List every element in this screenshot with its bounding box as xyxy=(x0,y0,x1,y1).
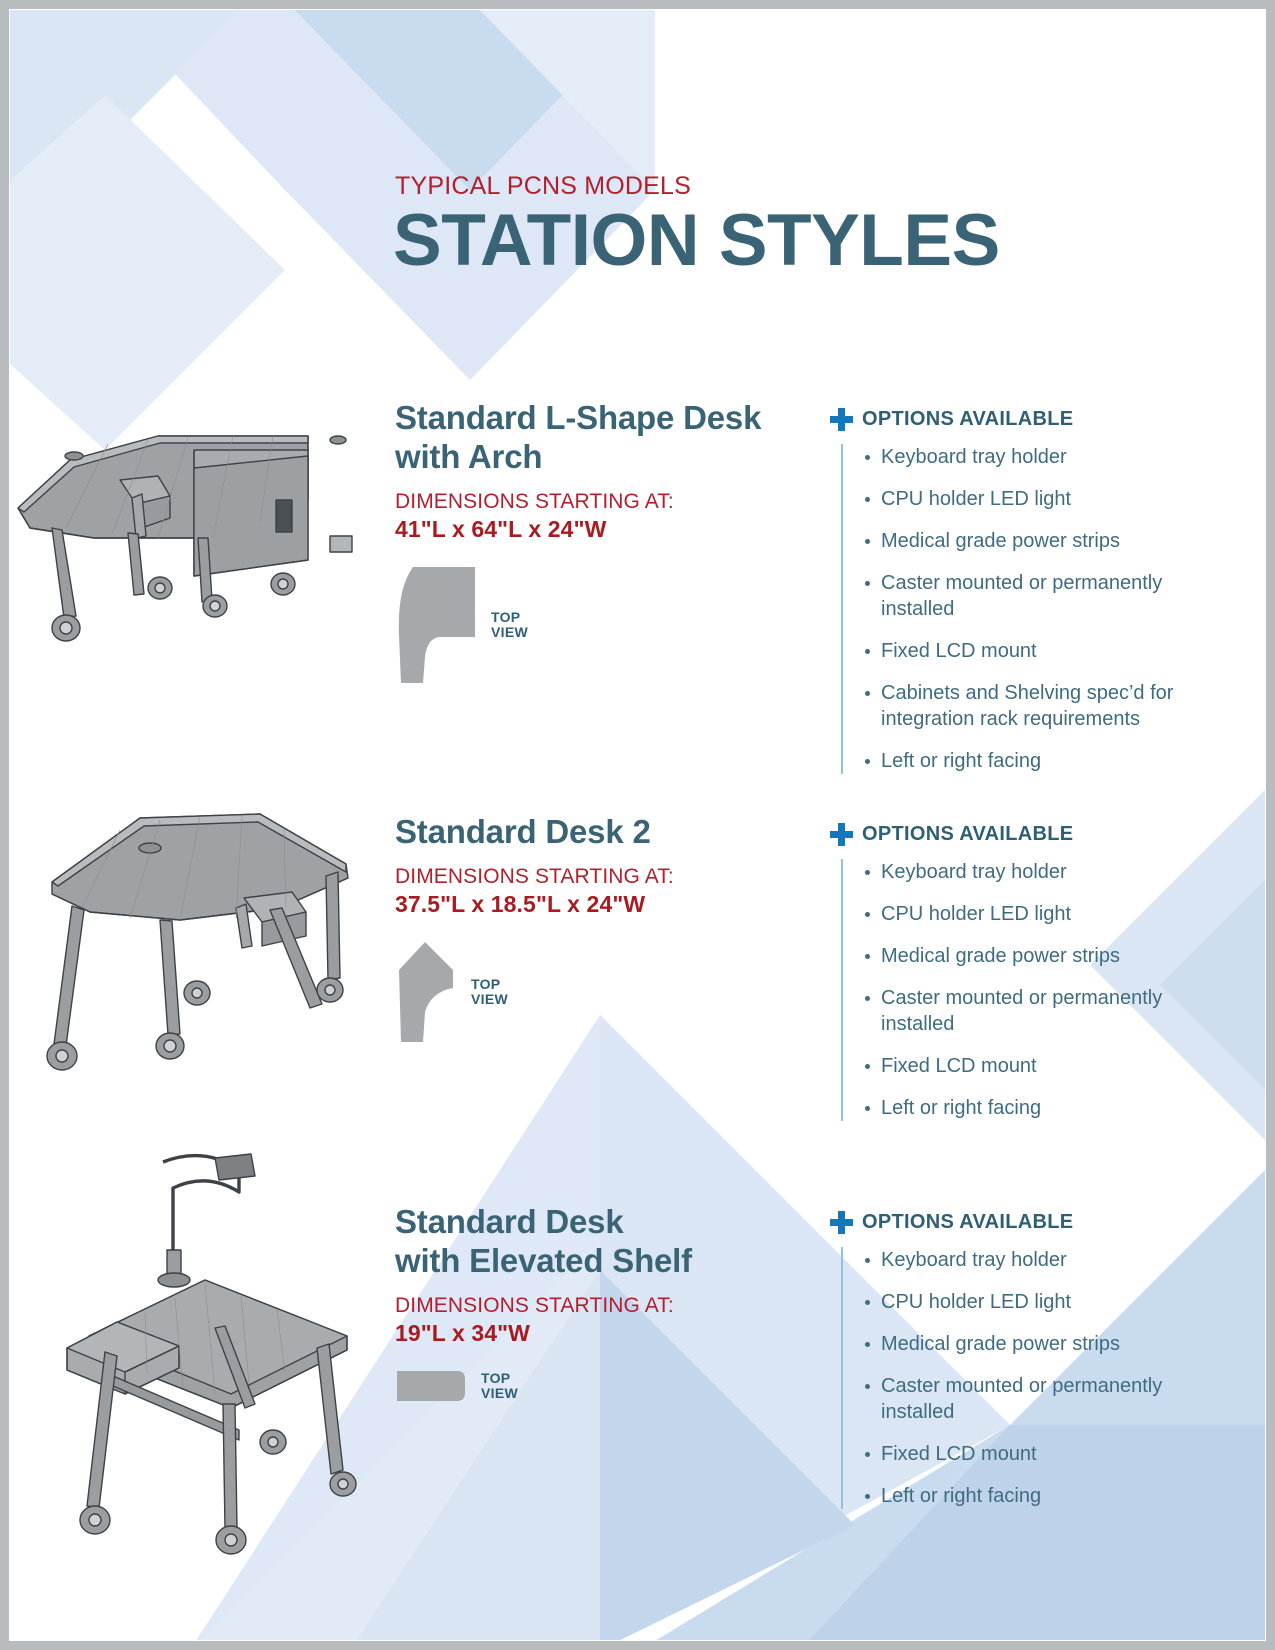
section-title: Standard Desk 2 xyxy=(395,812,815,851)
list-item: CPU holder LED light xyxy=(865,901,1190,927)
top-view-group: TOP VIEW xyxy=(395,565,815,685)
section-standard-desk-with-elevated-shelf: Standard Desk with Elevated Shelf DIMENS… xyxy=(395,1202,815,1403)
top-view-group: TOP VIEW xyxy=(395,1369,815,1403)
list-item: Medical grade power strips xyxy=(865,528,1190,554)
station-styles-page: TYPICAL PCNS MODELS STATION STYLES xyxy=(0,0,1275,1650)
options-list: Keyboard tray holder CPU holder LED ligh… xyxy=(841,859,1190,1121)
elevated-shelf-top-view-shape xyxy=(395,1369,467,1403)
section-title: Standard L-Shape Desk with Arch xyxy=(395,398,815,476)
list-item: Keyboard tray holder xyxy=(865,444,1190,470)
list-item: Caster mounted or permanently installed xyxy=(865,1373,1190,1425)
options-title: OPTIONS AVAILABLE xyxy=(862,1211,1073,1234)
top-view-label-line2: VIEW xyxy=(481,1385,518,1401)
section-title-line1: Standard Desk xyxy=(395,1203,623,1240)
options-panel-2: OPTIONS AVAILABLE Keyboard tray holder C… xyxy=(830,823,1190,1137)
list-item: Cabinets and Shelving spec’d for integra… xyxy=(865,680,1190,732)
list-item: Keyboard tray holder xyxy=(865,1247,1190,1273)
list-item: Left or right facing xyxy=(865,748,1190,774)
dimensions-value: 19"L x 34"W xyxy=(395,1319,815,1347)
list-item: CPU holder LED light xyxy=(865,486,1190,512)
options-panel-3: OPTIONS AVAILABLE Keyboard tray holder C… xyxy=(830,1211,1190,1525)
list-item: Medical grade power strips xyxy=(865,943,1190,969)
section-title-line1: Standard L-Shape Desk xyxy=(395,399,761,436)
options-header: OPTIONS AVAILABLE xyxy=(830,823,1190,846)
list-item: Medical grade power strips xyxy=(865,1331,1190,1357)
section-standard-l-shape-desk-with-arch: Standard L-Shape Desk with Arch DIMENSIO… xyxy=(395,398,815,685)
top-view-label-line1: TOP xyxy=(491,609,520,625)
top-view-label: TOP VIEW xyxy=(491,610,528,640)
plus-icon xyxy=(830,823,853,846)
dimensions-value: 41"L x 64"L x 24"W xyxy=(395,515,815,543)
options-title: OPTIONS AVAILABLE xyxy=(862,408,1073,431)
list-item: Caster mounted or permanently installed xyxy=(865,570,1190,622)
section-title-line1: Standard Desk 2 xyxy=(395,813,651,850)
dimensions-label: DIMENSIONS STARTING AT: xyxy=(395,489,815,515)
top-view-label: TOP VIEW xyxy=(481,1371,518,1401)
section-standard-desk-2: Standard Desk 2 DIMENSIONS STARTING AT: … xyxy=(395,812,815,1044)
list-item: Fixed LCD mount xyxy=(865,638,1190,664)
plus-icon xyxy=(830,1211,853,1234)
section-title-line2: with Arch xyxy=(395,438,542,475)
options-panel-1: OPTIONS AVAILABLE Keyboard tray holder C… xyxy=(830,408,1190,790)
dimensions-value: 37.5"L x 18.5"L x 24"W xyxy=(395,890,815,918)
list-item: Fixed LCD mount xyxy=(865,1441,1190,1467)
dimensions-label: DIMENSIONS STARTING AT: xyxy=(395,1293,815,1319)
top-view-label-line1: TOP xyxy=(481,1370,510,1386)
desk-2-top-view-shape xyxy=(395,940,457,1044)
standard-desk-with-elevated-shelf-illustration xyxy=(55,1140,395,1575)
list-item: Left or right facing xyxy=(865,1483,1190,1509)
l-shape-arch-top-view-shape xyxy=(395,565,477,685)
top-view-label-line1: TOP xyxy=(471,976,500,992)
page-kicker: TYPICAL PCNS MODELS xyxy=(395,172,691,201)
top-view-label-line2: VIEW xyxy=(471,991,508,1007)
top-view-label: TOP VIEW xyxy=(471,977,508,1007)
standard-l-shape-desk-with-arch-illustration xyxy=(8,388,388,673)
options-header: OPTIONS AVAILABLE xyxy=(830,408,1190,431)
options-title: OPTIONS AVAILABLE xyxy=(862,823,1073,846)
list-item: Left or right facing xyxy=(865,1095,1190,1121)
top-view-label-line2: VIEW xyxy=(491,624,528,640)
options-list: Keyboard tray holder CPU holder LED ligh… xyxy=(841,1247,1190,1509)
options-list: Keyboard tray holder CPU holder LED ligh… xyxy=(841,444,1190,774)
plus-icon xyxy=(830,408,853,431)
list-item: Keyboard tray holder xyxy=(865,859,1190,885)
list-item: CPU holder LED light xyxy=(865,1289,1190,1315)
options-header: OPTIONS AVAILABLE xyxy=(830,1211,1190,1234)
dimensions-label: DIMENSIONS STARTING AT: xyxy=(395,864,815,890)
list-item: Caster mounted or permanently installed xyxy=(865,985,1190,1037)
standard-desk-2-illustration xyxy=(30,790,390,1115)
list-item: Fixed LCD mount xyxy=(865,1053,1190,1079)
top-view-group: TOP VIEW xyxy=(395,940,815,1044)
section-title-line2: with Elevated Shelf xyxy=(395,1242,692,1279)
page-title: STATION STYLES xyxy=(393,203,1000,279)
section-title: Standard Desk with Elevated Shelf xyxy=(395,1202,815,1280)
